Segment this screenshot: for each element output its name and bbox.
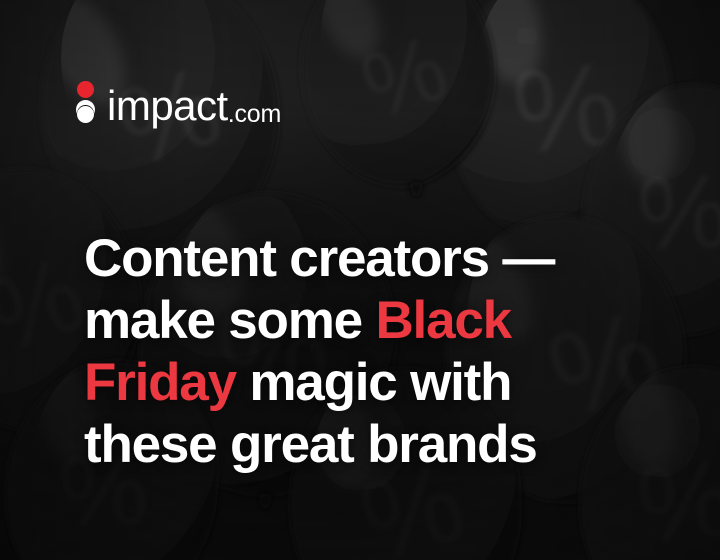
- balloon-knot: [409, 181, 424, 198]
- headline-text: these great brands: [84, 415, 537, 474]
- balloon-knot: [257, 493, 272, 510]
- headline-text: make some: [84, 291, 375, 350]
- headline: Content creators —make some BlackFriday …: [84, 228, 684, 476]
- logo-red-dot-icon: [77, 81, 94, 98]
- black-friday-banner: %%%%%%%%%% impact .com Content creators …: [0, 0, 720, 560]
- headline-line-1: Content creators —: [84, 228, 684, 290]
- headline-text: magic with: [236, 353, 511, 412]
- headline-accent-text: Black: [375, 291, 510, 350]
- headline-text: Content creators —: [84, 229, 554, 288]
- impact-logo-mark-icon: [76, 79, 98, 124]
- logo-white-dot-front-icon: [77, 106, 94, 123]
- headline-line-3: Friday magic with: [84, 352, 684, 414]
- headline-accent-text: Friday: [84, 353, 236, 412]
- impact-logo[interactable]: impact .com: [76, 78, 281, 124]
- logo-tld: .com: [228, 102, 281, 127]
- logo-wordmark: impact: [107, 85, 228, 127]
- headline-line-4: these great brands: [84, 414, 684, 476]
- headline-line-2: make some Black: [84, 290, 684, 352]
